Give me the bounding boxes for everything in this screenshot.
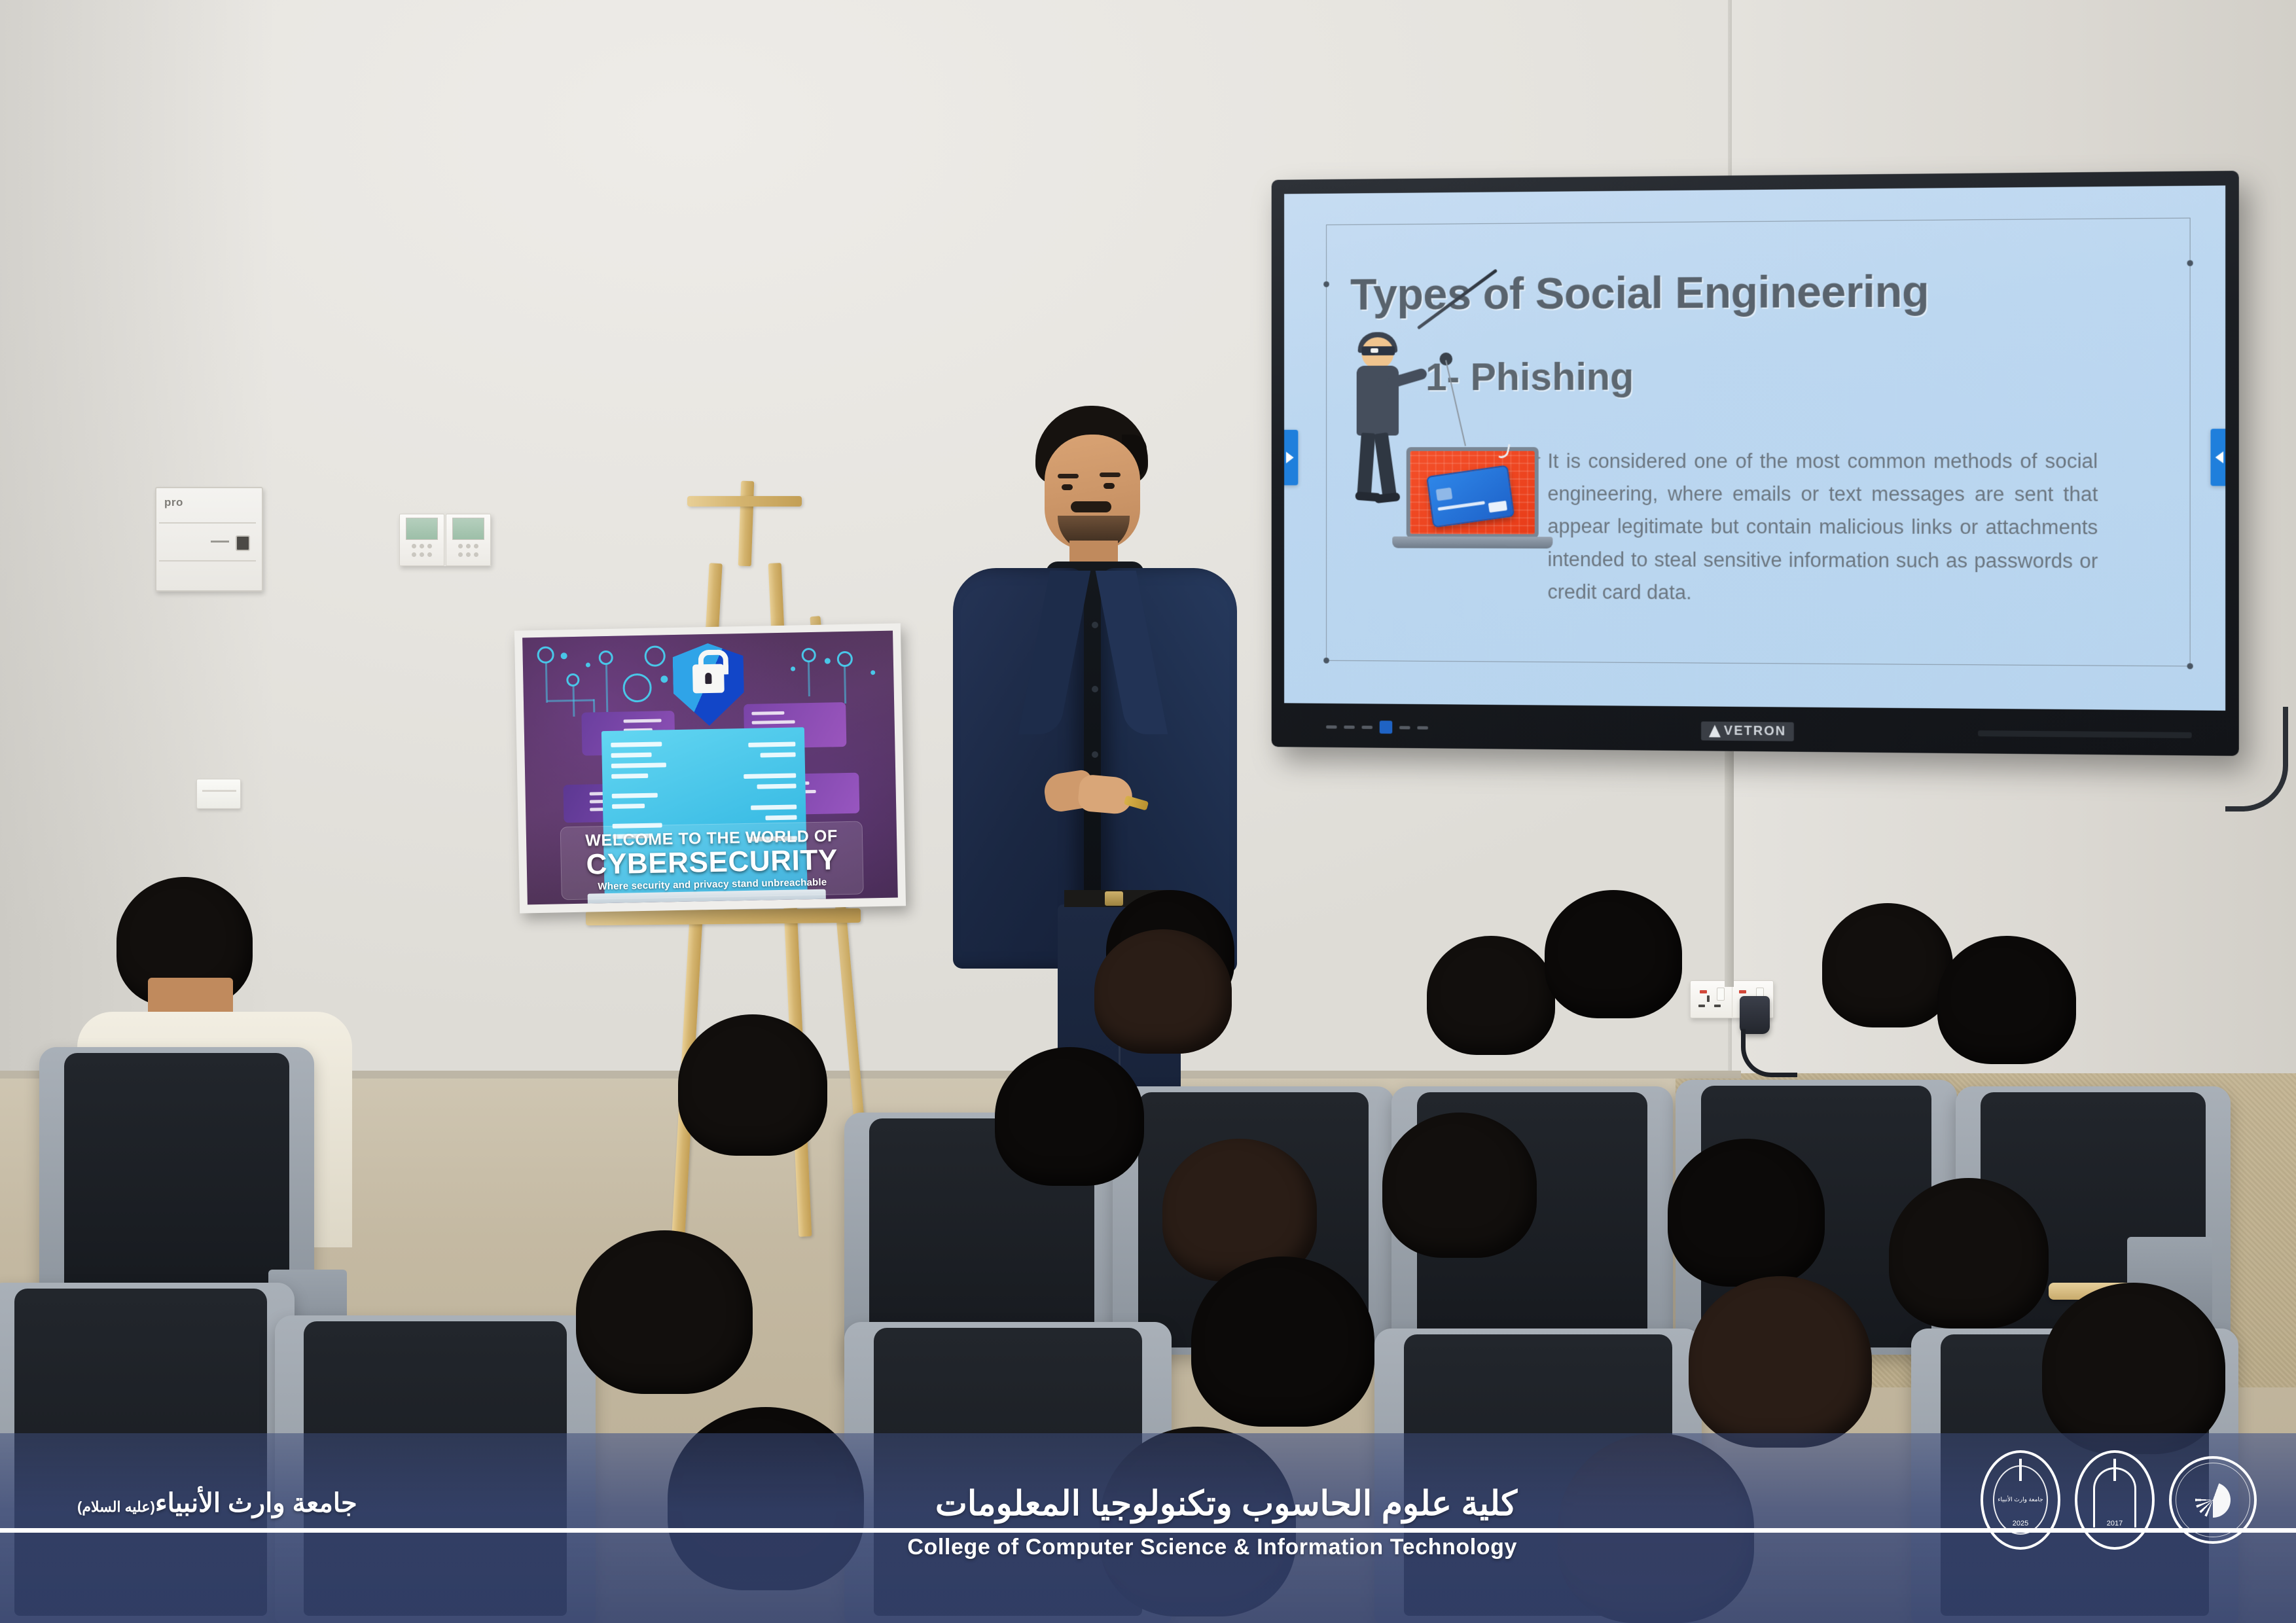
thief-mask-icon bbox=[1362, 346, 1395, 355]
audience-head bbox=[678, 1014, 827, 1156]
audience-head bbox=[1191, 1257, 1374, 1427]
thermostat-key[interactable] bbox=[420, 544, 424, 548]
logo-university-seal: 2017 bbox=[2075, 1450, 2155, 1550]
thermostat-key[interactable] bbox=[427, 552, 432, 557]
slide-next-tab[interactable] bbox=[2211, 429, 2226, 486]
thermostat-key[interactable] bbox=[427, 544, 432, 548]
cybersecurity-poster: WELCOME TO THE WORLD OF CYBERSECURITY Wh… bbox=[514, 623, 906, 913]
audience-head bbox=[1545, 890, 1682, 1018]
audience-head bbox=[1427, 936, 1555, 1055]
display-brand-name: VETRON bbox=[1724, 724, 1786, 740]
display-key[interactable] bbox=[1399, 726, 1410, 729]
logo-university-college-seal: جامعة وارث الأنبياء 2025 bbox=[1981, 1450, 2060, 1550]
display-key[interactable] bbox=[1362, 725, 1373, 728]
slide-body-text: It is considered one of the most common … bbox=[1548, 445, 2098, 611]
thermostat-key[interactable] bbox=[458, 544, 463, 548]
logo-year: 2025 bbox=[2013, 1520, 2028, 1527]
card-chip bbox=[1436, 488, 1453, 501]
spire-icon bbox=[2019, 1459, 2022, 1481]
thief-leg-right bbox=[1374, 433, 1397, 497]
poster-text-plate: WELCOME TO THE WORLD OF CYBERSECURITY Wh… bbox=[560, 821, 864, 901]
lock-icon bbox=[692, 664, 725, 694]
poster-line-2: CYBERSECURITY bbox=[561, 846, 863, 881]
easel-crossbar bbox=[687, 496, 802, 507]
brand-mark-icon bbox=[1709, 724, 1721, 737]
thermostat-key[interactable] bbox=[420, 552, 424, 557]
card-number-strip bbox=[1438, 501, 1485, 510]
phishing-illustration bbox=[1342, 331, 1534, 584]
laptop-keyboard-base bbox=[1392, 537, 1552, 548]
thermostat-key[interactable] bbox=[458, 552, 463, 557]
display-key[interactable] bbox=[1417, 726, 1428, 729]
thermostat-key[interactable] bbox=[412, 544, 416, 548]
thermostat-key[interactable] bbox=[466, 552, 471, 557]
college-name-english: College of Computer Science & Informatio… bbox=[907, 1535, 1517, 1560]
thermostat-key[interactable] bbox=[466, 544, 471, 548]
panel-latch[interactable] bbox=[236, 535, 250, 551]
display-speaker-vent bbox=[1978, 730, 2192, 738]
thermostat-1[interactable] bbox=[399, 514, 444, 566]
electrical-panel: pro bbox=[155, 487, 263, 592]
banner-divider bbox=[0, 1528, 2296, 1533]
thermostat-key[interactable] bbox=[474, 552, 478, 557]
display-key[interactable] bbox=[1344, 725, 1355, 728]
panel-handle-slot bbox=[211, 541, 229, 543]
audience-head bbox=[1689, 1276, 1872, 1448]
interactive-display[interactable]: Types of Social Engineering 1- Phishing … bbox=[1272, 171, 2239, 756]
audience-head bbox=[1889, 1178, 2049, 1329]
thermostat-key[interactable] bbox=[474, 544, 478, 548]
display-wall-mount bbox=[1725, 751, 1734, 987]
display-control-keys[interactable] bbox=[1326, 720, 1428, 734]
audience-head bbox=[995, 1047, 1144, 1186]
presenter-belt-buckle bbox=[1105, 891, 1123, 906]
thief-shoe-right bbox=[1374, 492, 1400, 503]
power-button[interactable] bbox=[1380, 721, 1392, 734]
electrical-panel-label: pro bbox=[164, 496, 183, 509]
audience-head bbox=[2042, 1283, 2225, 1454]
logo-year: 2017 bbox=[2107, 1520, 2123, 1527]
wall-socket-left[interactable] bbox=[196, 779, 241, 809]
logo-ring-text: جامعة وارث الأنبياء bbox=[1998, 1497, 2043, 1503]
socket-switch[interactable] bbox=[1717, 988, 1725, 1001]
thermostat-display bbox=[452, 518, 484, 540]
institution-logos: جامعة وارث الأنبياء 2025 2017 bbox=[1981, 1450, 2257, 1550]
chevron-right-icon bbox=[1286, 452, 1294, 463]
college-name-arabic: كلية علوم الحاسوب وتكنولوجيا المعلومات bbox=[935, 1484, 1517, 1524]
thermostat-pair bbox=[399, 514, 491, 566]
socket-indicator bbox=[1700, 990, 1707, 993]
audience-head bbox=[1382, 1113, 1537, 1258]
audience-head bbox=[1822, 903, 1953, 1027]
card-logo-box bbox=[1488, 501, 1507, 513]
display-key[interactable] bbox=[1326, 725, 1337, 728]
thermostat-2[interactable] bbox=[446, 514, 491, 566]
footer-banner: جامعة وارث الأنبياء(عليه السلام) كلية عل… bbox=[0, 1433, 2296, 1623]
chevron-left-icon bbox=[2215, 452, 2223, 463]
display-screen[interactable]: Types of Social Engineering 1- Phishing … bbox=[1284, 185, 2225, 710]
university-name-arabic: جامعة وارث الأنبياء(عليه السلام) bbox=[77, 1488, 357, 1518]
socket-indicator bbox=[1739, 990, 1746, 993]
audience-head bbox=[1937, 936, 2076, 1064]
arch-icon bbox=[2093, 1467, 2136, 1527]
display-brand-badge: VETRON bbox=[1701, 721, 1794, 741]
audience-head bbox=[576, 1230, 753, 1394]
logo-ministry-seal bbox=[2169, 1456, 2257, 1544]
presentation-slide: Types of Social Engineering 1- Phishing … bbox=[1284, 185, 2225, 710]
thermostat-display bbox=[406, 518, 437, 540]
sunburst-icon bbox=[2195, 1482, 2231, 1518]
thermostat-keys[interactable] bbox=[458, 544, 478, 548]
poster-artwork: WELCOME TO THE WORLD OF CYBERSECURITY Wh… bbox=[522, 631, 898, 905]
thermostat-keys-row2[interactable] bbox=[412, 552, 432, 557]
photo-canvas: pro bbox=[0, 0, 2296, 1623]
thief-leg-left bbox=[1357, 433, 1375, 497]
fishing-line bbox=[1445, 360, 1466, 446]
thermostat-keys[interactable] bbox=[412, 544, 432, 548]
audience-head bbox=[1668, 1139, 1825, 1287]
presenter-moustache bbox=[1071, 501, 1111, 512]
thermostat-key[interactable] bbox=[412, 552, 416, 557]
socket-holes bbox=[1698, 1001, 1721, 1011]
audience-head bbox=[1094, 929, 1232, 1054]
thief-eye bbox=[1371, 348, 1378, 353]
thermostat-keys-row2[interactable] bbox=[458, 552, 478, 557]
slide-prev-tab[interactable] bbox=[1284, 430, 1298, 486]
